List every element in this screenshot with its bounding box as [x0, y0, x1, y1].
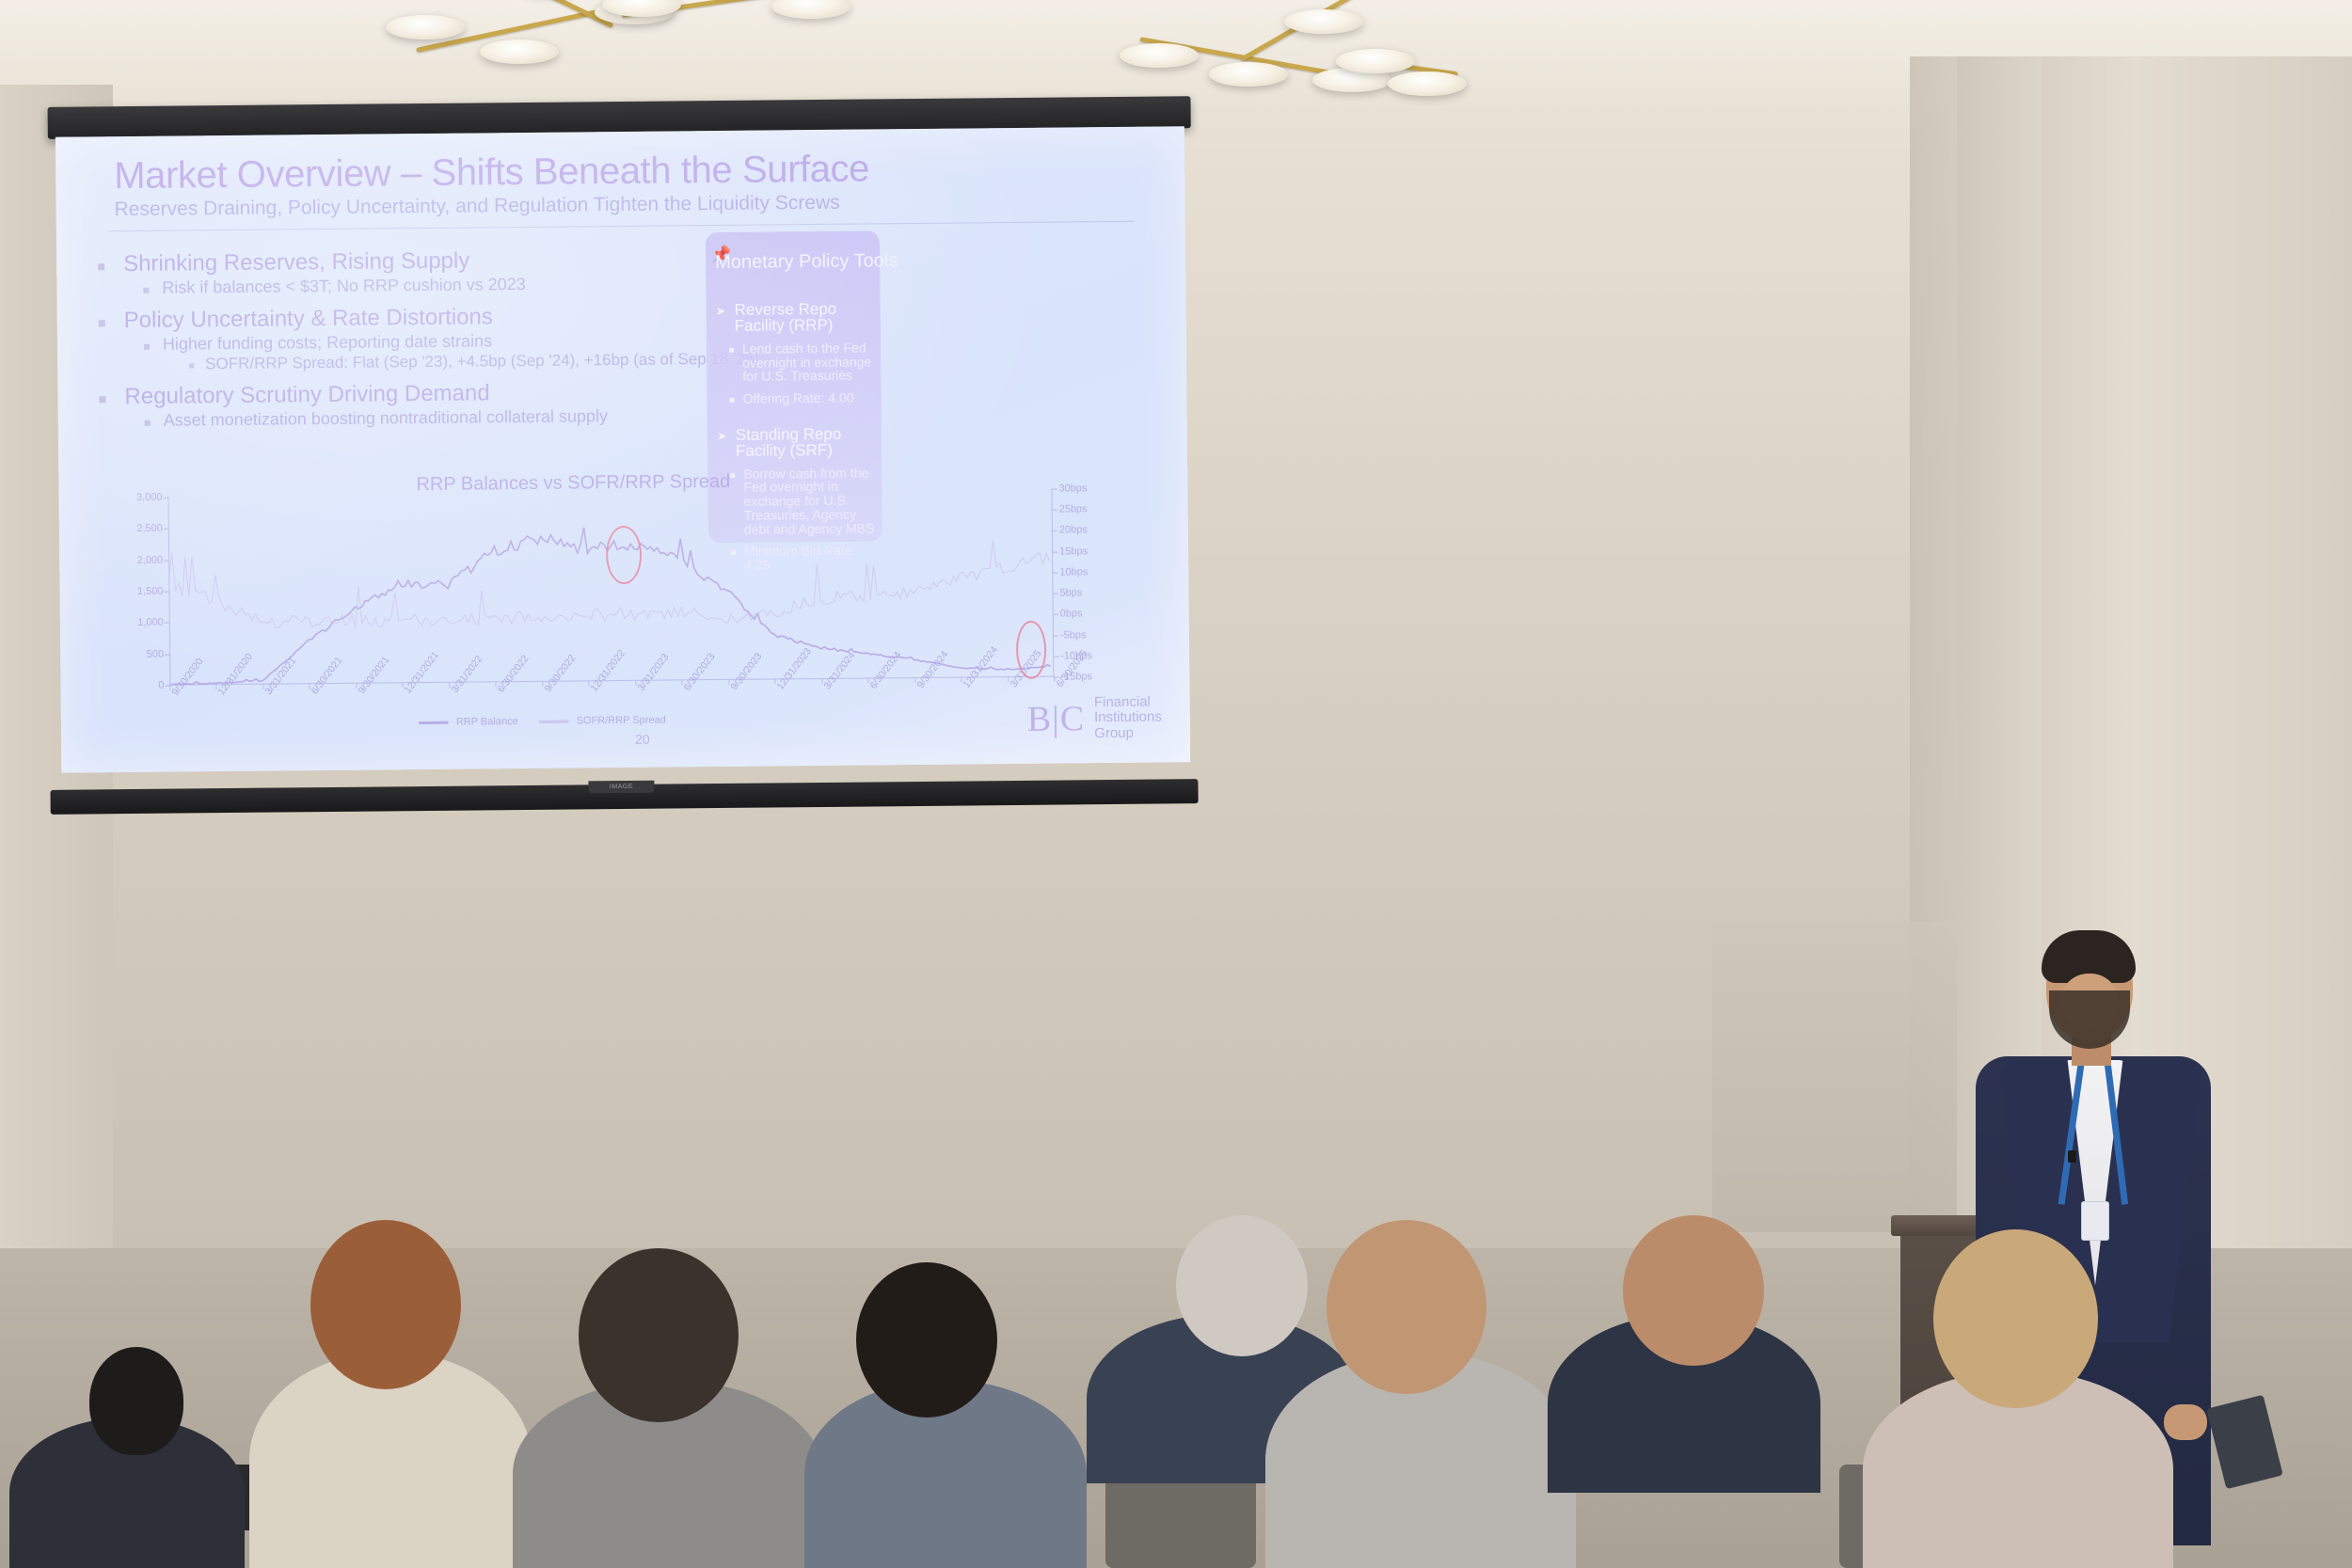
chart-tick [635, 681, 636, 686]
chart-y-right-tick-label: 10bps [1059, 566, 1088, 578]
chart-tick [542, 682, 543, 687]
bullet-text: Asset monetization boosting nontradition… [164, 406, 608, 431]
audience-head [310, 1220, 461, 1389]
logo-text: Financial Institutions Group [1094, 694, 1162, 742]
logo-line-3: Group [1094, 725, 1134, 741]
chart-y-right-tick-label: -5bps [1060, 629, 1087, 641]
chart-annotation-spread-spike-callout [1016, 621, 1047, 679]
chart-tick [867, 679, 868, 684]
chart-tick [1053, 531, 1057, 531]
bullet-marker-icon [98, 263, 104, 270]
bullet-text: Risk if balances < $3T; No RRP cushion v… [162, 275, 526, 298]
chart-annotation-rrp-decline-callout [606, 526, 643, 584]
chart-tick [821, 679, 822, 684]
legend-label-spread: SOFR/RRP Spread [577, 715, 666, 727]
company-logo: B|C Financial Institutions Group [1027, 694, 1163, 743]
chart-tick [775, 679, 776, 684]
bullet-text: Higher funding costs; Reporting date str… [163, 331, 492, 354]
chart-y-left-tick-label: 3,000 [136, 492, 163, 503]
screen-brand-tab: IMAGE [588, 781, 654, 794]
panel-sub-item: Lend cash to the Fed overnight in exchan… [729, 341, 876, 384]
chart-y-left-tick-label: 500 [147, 648, 164, 659]
rrp-chart: RRP Balances vs SOFR/RRP Spread 3,0002,5… [105, 473, 1143, 756]
chart-tick [1054, 594, 1058, 594]
conference-room: IMAGE Market Overview – Shifts Beneath t… [0, 0, 2352, 1568]
panel-sub-text: Offering Rate: 4.00 [742, 391, 853, 406]
audience-head [89, 1347, 183, 1455]
chart-tick [356, 684, 357, 689]
chart-y-left-tick-label: 1,500 [137, 586, 164, 597]
chart-y-right-tick-label: 25bps [1059, 503, 1088, 515]
chart-tick [262, 685, 263, 689]
audience-head [1933, 1229, 2098, 1408]
panel-title: Monetary Policy Tools [715, 250, 898, 274]
title-divider [108, 221, 1134, 231]
bullet-marker-icon [145, 420, 151, 426]
chart-tick [449, 683, 450, 688]
smartphone [2206, 1395, 2282, 1489]
chart-tick [1008, 677, 1009, 682]
panel-group-title: Reverse Repo Facility (RRP) [734, 300, 875, 333]
audience-head [1623, 1215, 1764, 1366]
chart-y-right-tick-label: 15bps [1059, 546, 1088, 557]
audience [0, 1173, 2352, 1568]
logo-line-1: Financial [1094, 693, 1151, 710]
slide-title: Market Overview – Shifts Beneath the Sur… [114, 148, 869, 198]
bullet-text: SOFR/RRP Spread: Flat (Sep '23), +4.5bp … [205, 350, 759, 374]
audience-head [856, 1262, 997, 1418]
chart-tick [496, 682, 497, 687]
audience-head [1176, 1215, 1308, 1356]
chart-tick [169, 686, 170, 690]
chart-tick [1054, 656, 1058, 657]
chart-tick [914, 678, 915, 683]
chart-tick [216, 685, 217, 689]
chart-tick [1054, 614, 1058, 615]
chart-y-right-tick-label: 0bps [1060, 609, 1083, 620]
chart-tick [589, 681, 590, 686]
chart-legend: RRP Balance SOFR/RRP Spread [419, 715, 666, 729]
chart-tick [1053, 510, 1057, 511]
chart-y-left-tick-label: 0 [158, 680, 164, 691]
bullet-marker-icon [99, 396, 105, 403]
chart-tick [728, 680, 729, 685]
legend-label-rrp: RRP Balance [456, 716, 518, 728]
chart-tick [1054, 635, 1058, 636]
bullet-text: Regulatory Scrutiny Driving Demand [124, 380, 489, 410]
panel-group-title: Standing Repo Facility (SRF) [736, 425, 877, 458]
bullet-text: Policy Uncertainty & Rate Distortions [124, 304, 493, 334]
presentation-slide: Market Overview – Shifts Beneath the Sur… [56, 126, 1190, 772]
chart-tick [1053, 551, 1057, 552]
chart-y-left-tick-label: 2,000 [137, 554, 164, 565]
chevron-right-icon: ➤ [716, 305, 726, 317]
chart-plot-area: 3,0002,5002,0001,5001,0005000 30bps25bps… [168, 489, 1055, 686]
bullet-marker-icon [143, 288, 149, 293]
chart-tick [1052, 489, 1057, 490]
chart-y-right-tick-label: 30bps [1058, 483, 1087, 494]
chart-tick [1054, 677, 1055, 682]
chart-tick [1053, 572, 1057, 573]
chart-tick [961, 678, 961, 683]
audience-head [579, 1248, 739, 1422]
bullet-marker-icon [189, 363, 194, 368]
chart-y-right-tick-label: 20bps [1059, 525, 1088, 536]
chart-y-right-tick-label: 5bps [1059, 587, 1082, 598]
panel-sub-item: Offering Rate: 4.00 [729, 390, 876, 405]
chart-series-svg [168, 489, 1055, 686]
logo-mark: B|C [1027, 698, 1086, 740]
bullet-marker-icon [730, 398, 735, 403]
bullet-marker-icon [99, 320, 105, 326]
chart-tick [682, 680, 683, 685]
projection-screen: IMAGE Market Overview – Shifts Beneath t… [56, 96, 1191, 793]
presenter-beard [2049, 990, 2130, 1049]
chart-tick [403, 683, 404, 688]
legend-swatch-spread [539, 720, 569, 722]
slide-page-number: 20 [635, 732, 650, 747]
lapel-microphone-icon [2068, 1150, 2076, 1163]
audience-head [1327, 1220, 1486, 1394]
bullet-marker-icon [729, 348, 734, 353]
chart-y-left-tick-label: 2,500 [136, 523, 163, 534]
bullet-text: Shrinking Reserves, Rising Supply [123, 248, 469, 278]
panel-group-heading: ➤ Standing Repo Facility (SRF) [717, 425, 877, 459]
chart-tick [310, 684, 310, 689]
panel-group-heading: ➤ Reverse Repo Facility (RRP) [716, 300, 876, 334]
panel-sub-text: Lend cash to the Fed overnight in exchan… [742, 341, 876, 383]
chevron-right-icon: ➤ [717, 430, 727, 442]
bullet-marker-icon [144, 344, 150, 350]
slide-bullet-list: Shrinking Reserves, Rising Supply Risk i… [98, 236, 758, 432]
chart-y-left-tick-label: 1,000 [137, 617, 164, 628]
legend-swatch-rrp [419, 721, 449, 723]
logo-line-2: Institutions [1094, 709, 1162, 726]
